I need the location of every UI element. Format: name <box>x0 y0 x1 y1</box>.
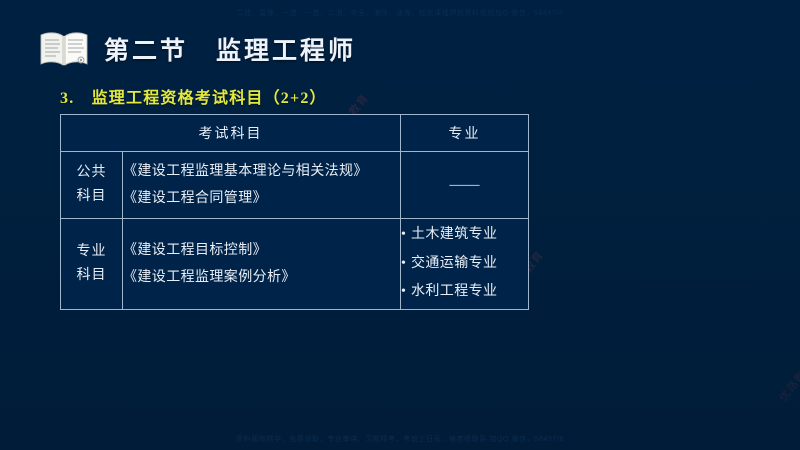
row-label-line: 科目 <box>61 185 122 210</box>
row-courses-public: 《建设工程监理基本理论与相关法规》 《建设工程合同管理》 <box>123 152 401 219</box>
row-label-line: 专业 <box>61 240 122 265</box>
list-item: •交通运输专业 <box>401 250 528 279</box>
top-marquee-text: 二建、监理、一造、一造、二消、安全、消防、咨询、检测课程押题资料视频加Q 微信，… <box>0 8 800 18</box>
open-book-icon <box>38 29 90 69</box>
bullet-icon: • <box>401 250 411 279</box>
exam-subjects-table: 考试科目 专业 公共 科目 《建设工程监理基本理论与相关法规》 《建设工程合同管… <box>60 114 529 310</box>
course-item: 《建设工程监理基本理论与相关法规》 <box>123 158 400 185</box>
row-label-line: 公共 <box>61 161 122 186</box>
watermark-text: 优路教育 <box>775 357 800 405</box>
table-row: 专业 科目 《建设工程目标控制》 《建设工程监理案例分析》 •土木建筑专业 •交… <box>61 219 529 310</box>
course-item: 《建设工程合同管理》 <box>123 185 400 212</box>
row-majors-public: —— <box>401 152 529 219</box>
row-courses-major: 《建设工程目标控制》 《建设工程监理案例分析》 <box>123 219 401 310</box>
column-header-major: 专业 <box>401 115 529 152</box>
bullet-icon: • <box>401 221 411 250</box>
row-label-public: 公共 科目 <box>61 152 123 219</box>
slide-canvas: 二建、监理、一造、一造、二消、安全、消防、咨询、检测课程押题资料视频加Q 微信，… <box>0 0 800 450</box>
row-label-major: 专业 科目 <box>61 219 123 310</box>
course-item: 《建设工程目标控制》 <box>123 237 400 264</box>
course-item: 《建设工程监理案例分析》 <box>123 264 400 291</box>
row-label-line: 科目 <box>61 264 122 289</box>
list-item: •土木建筑专业 <box>401 221 528 250</box>
section-subtitle: 3. 监理工程资格考试科目（2+2） <box>60 84 327 108</box>
table-row: 公共 科目 《建设工程监理基本理论与相关法规》 《建设工程合同管理》 —— <box>61 152 529 219</box>
major-label: 土木建筑专业 <box>411 227 497 242</box>
list-item: •水利工程专业 <box>401 278 528 307</box>
bottom-marquee-text: 资料面授精华、免费领取、专业串讲、习题精考、考前三日乐、培老师联系 加QQ 微信… <box>0 434 800 444</box>
table-header-row: 考试科目 专业 <box>61 115 529 152</box>
column-header-course: 考试科目 <box>61 115 401 152</box>
bullet-icon: • <box>401 278 411 307</box>
row-majors-specialty: •土木建筑专业 •交通运输专业 •水利工程专业 <box>401 219 529 310</box>
major-label: 水利工程专业 <box>411 284 497 299</box>
major-label: 交通运输专业 <box>411 256 497 271</box>
page-title: 第二节 监理工程师 <box>104 31 356 67</box>
slide-header: 第二节 监理工程师 <box>0 22 800 76</box>
